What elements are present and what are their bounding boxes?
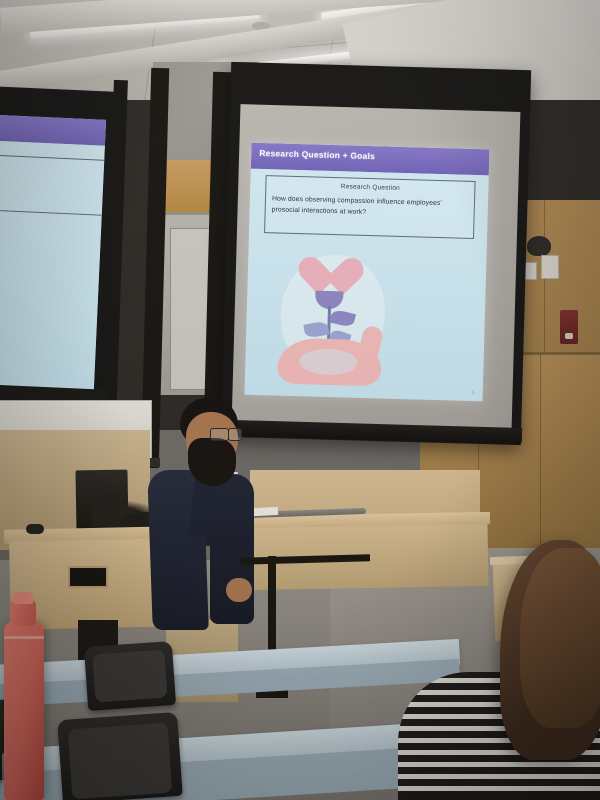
slide-left-body: n: ce employees' prosocial	[0, 138, 105, 391]
water-bottle-cap[interactable]	[13, 592, 33, 604]
slide-body: Research Question How does observing com…	[245, 169, 489, 402]
chair-back	[92, 650, 167, 703]
glasses-icon	[210, 428, 229, 441]
water-bottle-ring	[4, 636, 44, 639]
fire-alarm-label	[565, 333, 573, 339]
research-question-text: How does observing compassion influence …	[272, 193, 470, 221]
slide-left-question-box: n: ce employees' prosocial	[0, 149, 106, 216]
projector-screen-left: n: ce employees' prosocial	[0, 112, 106, 391]
presenter-jacket	[210, 474, 254, 624]
slide-page-number: 5	[472, 390, 475, 396]
research-question-box: Research Question How does observing com…	[264, 175, 476, 239]
lectern-control-panel[interactable]	[68, 566, 108, 588]
water-bottle[interactable]	[4, 622, 44, 800]
mouse-icon[interactable]	[26, 524, 44, 534]
audience-member-hair	[520, 548, 600, 728]
camera-icon	[527, 236, 551, 256]
wall-plate	[541, 255, 559, 279]
presentation-photo: n: ce employees' prosocial Research Ques…	[0, 0, 600, 800]
hand-holding-heart-flower-icon	[273, 249, 397, 382]
presenter-beard	[188, 438, 236, 486]
research-question-label: Research Question	[266, 181, 474, 194]
slide-title: Research Question + Goals	[259, 148, 375, 161]
chair-back	[68, 723, 173, 800]
presenter-hands	[226, 578, 252, 602]
glasses-icon	[228, 428, 242, 441]
presentation-slide: Research Question + Goals Research Quest…	[245, 143, 490, 402]
